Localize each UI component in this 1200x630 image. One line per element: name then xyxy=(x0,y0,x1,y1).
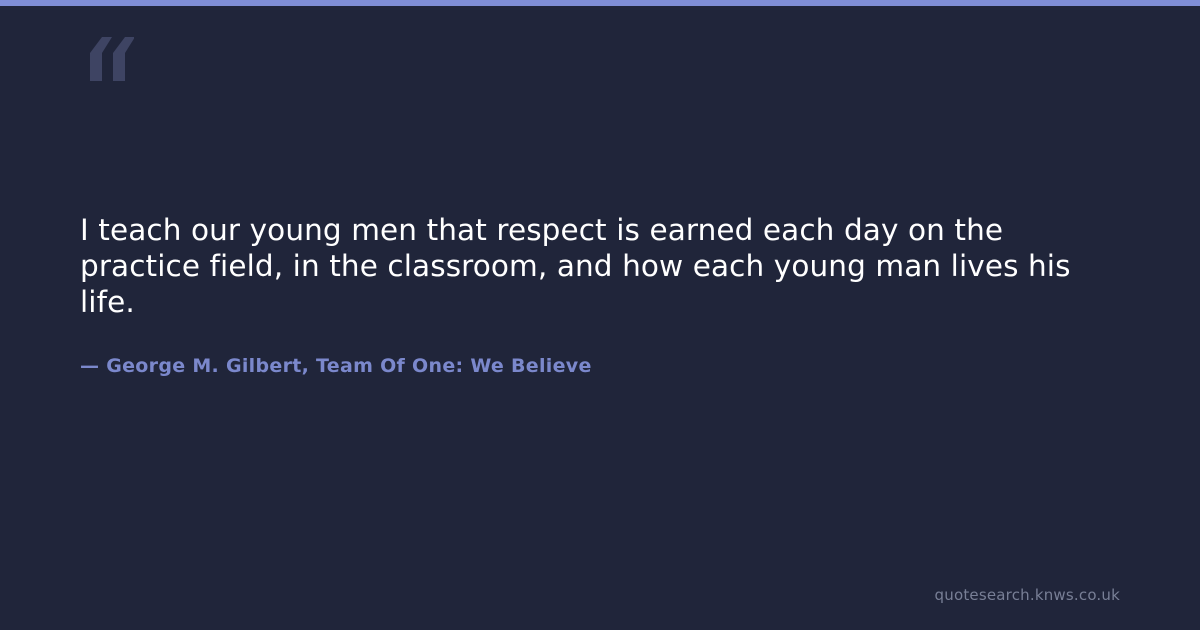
quote-attribution: — George M. Gilbert, Team Of One: We Bel… xyxy=(80,320,1110,378)
quote-content: I teach our young men that respect is ea… xyxy=(80,212,1110,378)
quote-text: I teach our young men that respect is ea… xyxy=(80,212,1110,320)
site-watermark: quotesearch.knws.co.uk xyxy=(935,586,1120,604)
quote-card: I teach our young men that respect is ea… xyxy=(0,0,1200,630)
quotation-mark-icon xyxy=(80,37,134,81)
top-accent-bar xyxy=(0,0,1200,6)
